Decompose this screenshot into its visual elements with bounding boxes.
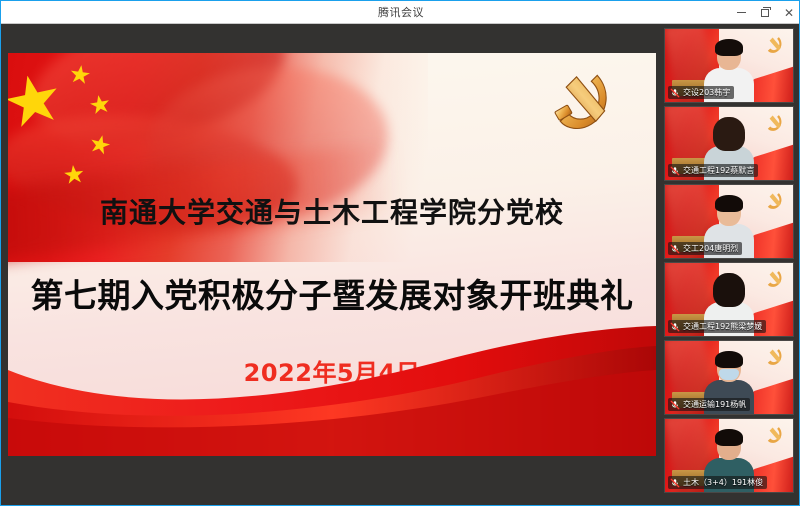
mic-muted-icon [670,244,680,254]
participant-name: 交设203韩宇 [683,87,730,98]
hammer-and-sickle-icon [763,34,785,56]
participant-hair [713,273,745,307]
window-title: 腾讯会议 [378,4,424,20]
red-ribbon-decoration [8,326,656,456]
window-title-bar[interactable]: 腾讯会议 ✕ [1,1,800,24]
mic-muted-icon [670,478,680,488]
slide-subtitle: 第七期入党积极分子暨发展对象开班典礼 [8,269,656,317]
participant-name-badge: 土木（3+4）191林俊 [668,476,767,489]
participant-name: 交通运输191杨帆 [683,399,746,410]
participant-tile[interactable]: 交工204唐明烈 [664,184,794,259]
participant-name: 交工204唐明烈 [683,243,738,254]
participant-tile[interactable]: 土木（3+4）191林俊 [664,418,794,493]
participant-tile[interactable]: 交设203韩宇 [664,28,794,103]
hammer-and-sickle-icon [544,65,618,139]
participant-tile[interactable]: 交通运输191杨帆 [664,340,794,415]
window-controls: ✕ [729,1,800,24]
presentation-slide: 南通大学交通与土木工程学院分党校 第七期入党积极分子暨发展对象开班典礼 2022… [8,53,656,456]
slide-title: 南通大学交通与土木工程学院分党校 [8,191,656,231]
shared-content-stage[interactable]: 南通大学交通与土木工程学院分党校 第七期入党积极分子暨发展对象开班典礼 2022… [2,25,662,505]
participant-tile[interactable]: 交通工程192蔡默言 [664,106,794,181]
participant-filmstrip[interactable]: 交设203韩宇交通工程192蔡默言交工204唐明烈交通工程192熊梁梦媛交通运输… [660,25,798,506]
hammer-and-sickle-icon [763,268,785,290]
tencent-meeting-window: 腾讯会议 ✕ [0,0,800,506]
close-icon: ✕ [784,7,794,19]
minimize-icon [737,12,746,13]
hammer-and-sickle-icon [763,190,785,212]
participant-name-badge: 交通工程192蔡默言 [668,164,758,177]
participant-tile[interactable]: 交通工程192熊梁梦媛 [664,262,794,337]
participant-hair [715,39,743,56]
participant-name: 交通工程192蔡默言 [683,165,754,176]
hammer-and-sickle-icon [763,346,785,368]
participant-name: 交通工程192熊梁梦媛 [683,321,762,332]
participant-name-badge: 交工204唐明烈 [668,242,742,255]
close-button[interactable]: ✕ [777,1,800,24]
mic-muted-icon [670,88,680,98]
participant-hair [715,195,743,212]
mic-muted-icon [670,322,680,332]
participant-hair [715,429,743,446]
mic-muted-icon [670,400,680,410]
face-mask-icon [719,369,739,380]
participant-name: 土木（3+4）191林俊 [683,477,763,488]
mic-muted-icon [670,166,680,176]
maximize-icon [761,9,769,17]
participant-hair [715,351,743,368]
participant-name-badge: 交通工程192熊梁梦媛 [668,320,766,333]
participant-name-badge: 交设203韩宇 [668,86,734,99]
hammer-and-sickle-icon [763,424,785,446]
participant-name-badge: 交通运输191杨帆 [668,398,750,411]
maximize-button[interactable] [753,1,777,24]
participant-hair [713,117,745,151]
hammer-and-sickle-icon [763,112,785,134]
minimize-button[interactable] [729,1,753,24]
